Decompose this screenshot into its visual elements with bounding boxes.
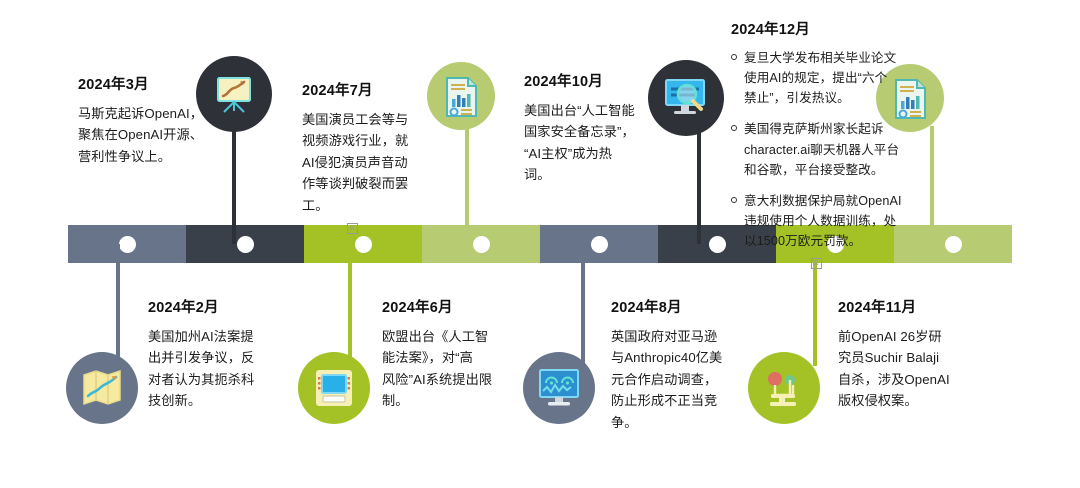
event-date: 2024年2月 [148,296,283,317]
icon-bubble-2024-08[interactable] [523,352,595,424]
event-date: 2024年6月 [382,296,517,317]
event-text: 马斯克起诉OpenAI， 聚焦在OpenAI开源、 营利性争议上。 [78,103,218,167]
event-block-2024-11: 2024年11月 前OpenAI 26岁研 究员Suchir Balaji 自杀… [838,296,978,412]
list-item: 美国得克萨斯州家长起诉 character.ai聊天机器人平台 和谷歌，平台接受… [731,119,931,179]
event-block-2024-02: 2024年2月 美国加州AI法案提 出并引发争议，反 对者认为其扼杀科 技创新。 [148,296,283,412]
event-block-2024-08: 2024年8月 英国政府对亚马逊 与Anthropic40亿美 元合作启动调查，… [611,296,746,433]
event-block-2024-03: 2024年3月 马斯克起诉OpenAI， 聚焦在OpenAI开源、 营利性争议上… [78,73,218,167]
event-date: 2024年10月 [524,70,652,91]
timeline-node-6[interactable] [709,236,726,253]
event-text: 美国加州AI法案提 出并引发争议，反 对者认为其扼杀科 技创新。 [148,326,283,412]
event-block-2024-07: 2024年7月 美国演员工会等与 视频游戏行业，就 AI侵犯演员声音动 作等谈判… [302,79,427,235]
event-text: 欧盟出台《人工智 能法案》，对“高 风险”AI系统提出限 制。 [382,326,517,412]
stem-2024-06 [348,244,352,366]
timeline-node-1[interactable] [119,236,136,253]
icon-bubble-2024-07[interactable] [427,62,495,130]
icon-bubble-2024-10[interactable] [648,60,724,136]
icon-bubble-2024-02[interactable] [66,352,138,424]
icon-bubble-2024-11[interactable] [748,352,820,424]
event-block-2024-06: 2024年6月 欧盟出台《人工智 能法案》，对“高 风险”AI系统提出限 制。 [382,296,517,412]
report-document-icon [440,73,482,119]
event-block-2024-12: 2024年12月 复旦大学发布相关毕业论文 使用AI的规定，提出“六个 禁止”，… [731,18,931,270]
stem-2024-03 [232,118,236,244]
event-bullet-list: 复旦大学发布相关毕业论文 使用AI的规定，提出“六个 禁止”，引发热议。 美国得… [731,48,931,251]
timeline-segment-4 [422,225,540,263]
event-date: 2024年12月 [731,18,931,39]
timeline-segment-1 [68,225,186,263]
stem-2024-08 [581,244,585,366]
image-placeholder-icon: ⊞ [347,223,358,234]
atm-kiosk-icon [311,365,357,411]
robot-icon [760,365,808,411]
icon-bubble-2024-06[interactable] [298,352,370,424]
stem-2024-07 [465,124,469,244]
event-text: 英国政府对亚马逊 与Anthropic40亿美 元合作启动调查， 防止形成不正当… [611,326,746,433]
monitor-dashboard-icon [535,366,583,410]
timeline-segment-2 [186,225,304,263]
infographic-canvas: 2024年3月 马斯克起诉OpenAI， 聚焦在OpenAI开源、 营利性争议上… [0,0,1080,488]
timeline-node-4[interactable] [473,236,490,253]
stem-2024-02 [116,244,120,366]
image-placeholder-icon: ⊞ [811,258,822,269]
event-text: 美国演员工会等与 视频游戏行业，就 AI侵犯演员声音动 作等谈判破裂而罢 工。 [302,109,427,216]
timeline-node-5[interactable] [591,236,608,253]
event-date: 2024年11月 [838,296,978,317]
event-date: 2024年8月 [611,296,746,317]
list-item: 复旦大学发布相关毕业论文 使用AI的规定，提出“六个 禁止”，引发热议。 [731,48,931,108]
event-text: 美国出台“人工智能 国家安全备忘录”， “AI主权”成为热 词。 [524,100,652,186]
event-block-2024-10: 2024年10月 美国出台“人工智能 国家安全备忘录”， “AI主权”成为热 词… [524,70,652,186]
timeline-node-3[interactable] [355,236,372,253]
stem-2024-10 [697,124,701,244]
event-date: 2024年3月 [78,73,218,94]
event-text: 前OpenAI 26岁研 究员Suchir Balaji 自杀，涉及OpenAI… [838,326,978,412]
list-item: 意大利数据保护局就OpenAI 违规使用个人数据训练，处 以1500万欧元罚款。 [731,191,931,251]
timeline-node-2[interactable] [237,236,254,253]
map-chart-icon [78,366,126,410]
timeline-segment-5 [540,225,658,263]
event-text: 复旦大学发布相关毕业论文 使用AI的规定，提出“六个 禁止”，引发热议。 美国得… [731,48,931,251]
timeline-node-8[interactable] [945,236,962,253]
event-date: 2024年7月 [302,79,427,100]
monitor-search-icon [661,75,711,121]
